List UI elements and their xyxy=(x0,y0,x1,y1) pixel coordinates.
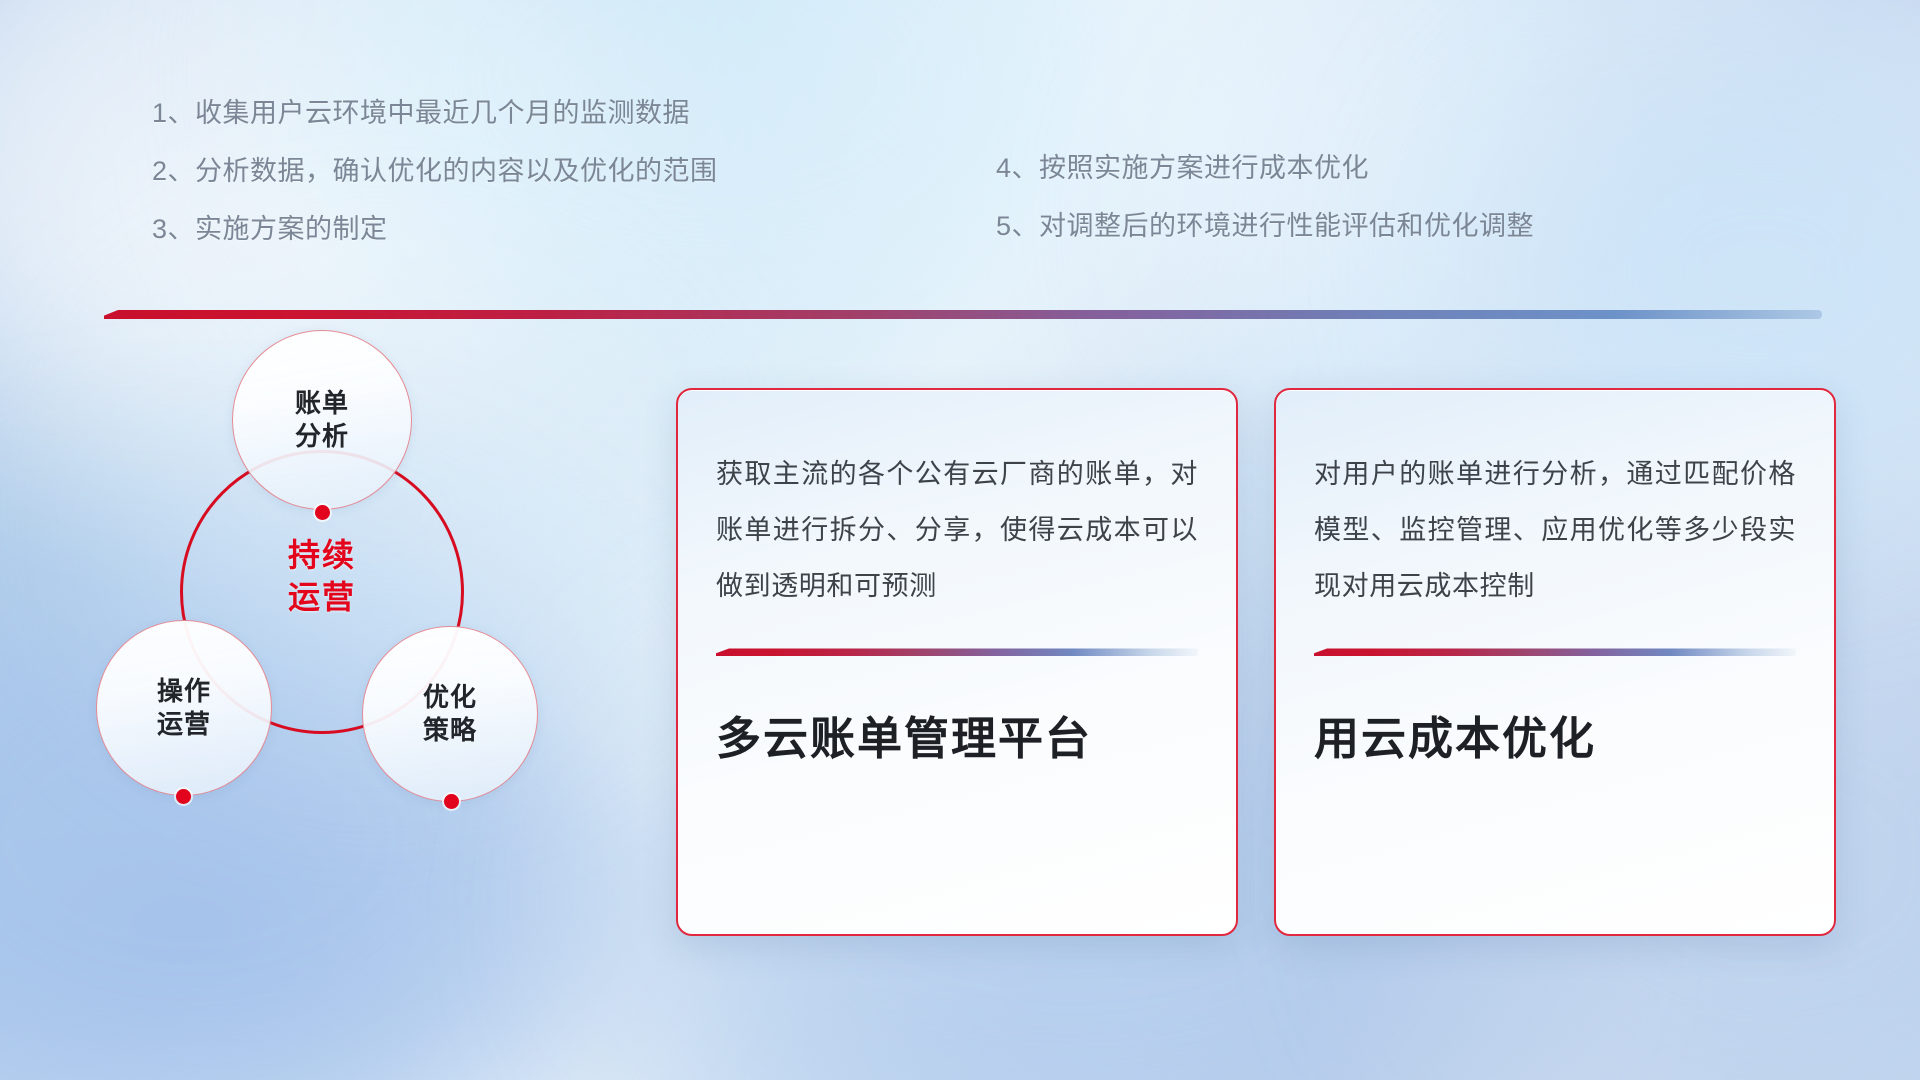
venn-center-label: 持续 运营 xyxy=(224,535,420,618)
venn-center-label-line2: 运营 xyxy=(224,577,420,619)
card-body-text: 获取主流的各个公有云厂商的账单，对账单进行拆分、分享，使得云成本可以做到透明和可… xyxy=(716,446,1198,614)
step-item-3: 3、实施方案的制定 xyxy=(152,216,718,243)
venn-diagram: 账单 分析 操作 运营 优化 策略 持续 运营 xyxy=(96,330,556,820)
steps-left-column: 1、收集用户云环境中最近几个月的监测数据 2、分析数据，确认优化的内容以及优化的… xyxy=(152,100,718,243)
venn-node-dot-right-icon xyxy=(444,794,459,809)
card-divider xyxy=(1314,648,1796,656)
card-divider xyxy=(716,648,1198,656)
step-item-2: 2、分析数据，确认优化的内容以及优化的范围 xyxy=(152,158,718,185)
card-title: 用云成本优化 xyxy=(1314,712,1796,766)
step-item-5: 5、对调整后的环境进行性能评估和优化调整 xyxy=(996,213,1534,240)
step-item-4: 4、按照实施方案进行成本优化 xyxy=(996,155,1534,182)
card-cloud-cost-optimization[interactable]: 对用户的账单进行分析，通过匹配价格模型、监控管理、应用优化等多少段实现对用云成本… xyxy=(1274,388,1836,936)
venn-bubble-label-line2: 策略 xyxy=(423,714,477,747)
venn-bubble-optimization-strategy[interactable]: 优化 策略 xyxy=(362,626,538,802)
card-title: 多云账单管理平台 xyxy=(716,712,1198,766)
card-body-text: 对用户的账单进行分析，通过匹配价格模型、监控管理、应用优化等多少段实现对用云成本… xyxy=(1314,446,1796,614)
slide-canvas: 1、收集用户云环境中最近几个月的监测数据 2、分析数据，确认优化的内容以及优化的… xyxy=(0,0,1920,1080)
card-multi-cloud-billing-platform[interactable]: 获取主流的各个公有云厂商的账单，对账单进行拆分、分享，使得云成本可以做到透明和可… xyxy=(676,388,1238,936)
venn-bubble-label-line1: 操作 xyxy=(157,675,211,708)
venn-node-dot-top-icon xyxy=(315,505,330,520)
venn-node-dot-left-icon xyxy=(176,789,191,804)
section-divider xyxy=(104,310,1822,319)
steps-right-column: 4、按照实施方案进行成本优化 5、对调整后的环境进行性能评估和优化调整 xyxy=(996,155,1534,240)
venn-bubble-label-line1: 账单 xyxy=(295,387,349,420)
venn-bubble-label-line2: 分析 xyxy=(295,420,349,453)
step-item-1: 1、收集用户云环境中最近几个月的监测数据 xyxy=(152,100,718,127)
venn-bubble-label-line1: 优化 xyxy=(423,681,477,714)
venn-center-label-line1: 持续 xyxy=(224,535,420,577)
venn-bubble-operations[interactable]: 操作 运营 xyxy=(96,620,272,796)
venn-bubble-label-line2: 运营 xyxy=(157,708,211,741)
venn-bubble-bill-analysis[interactable]: 账单 分析 xyxy=(232,330,412,510)
